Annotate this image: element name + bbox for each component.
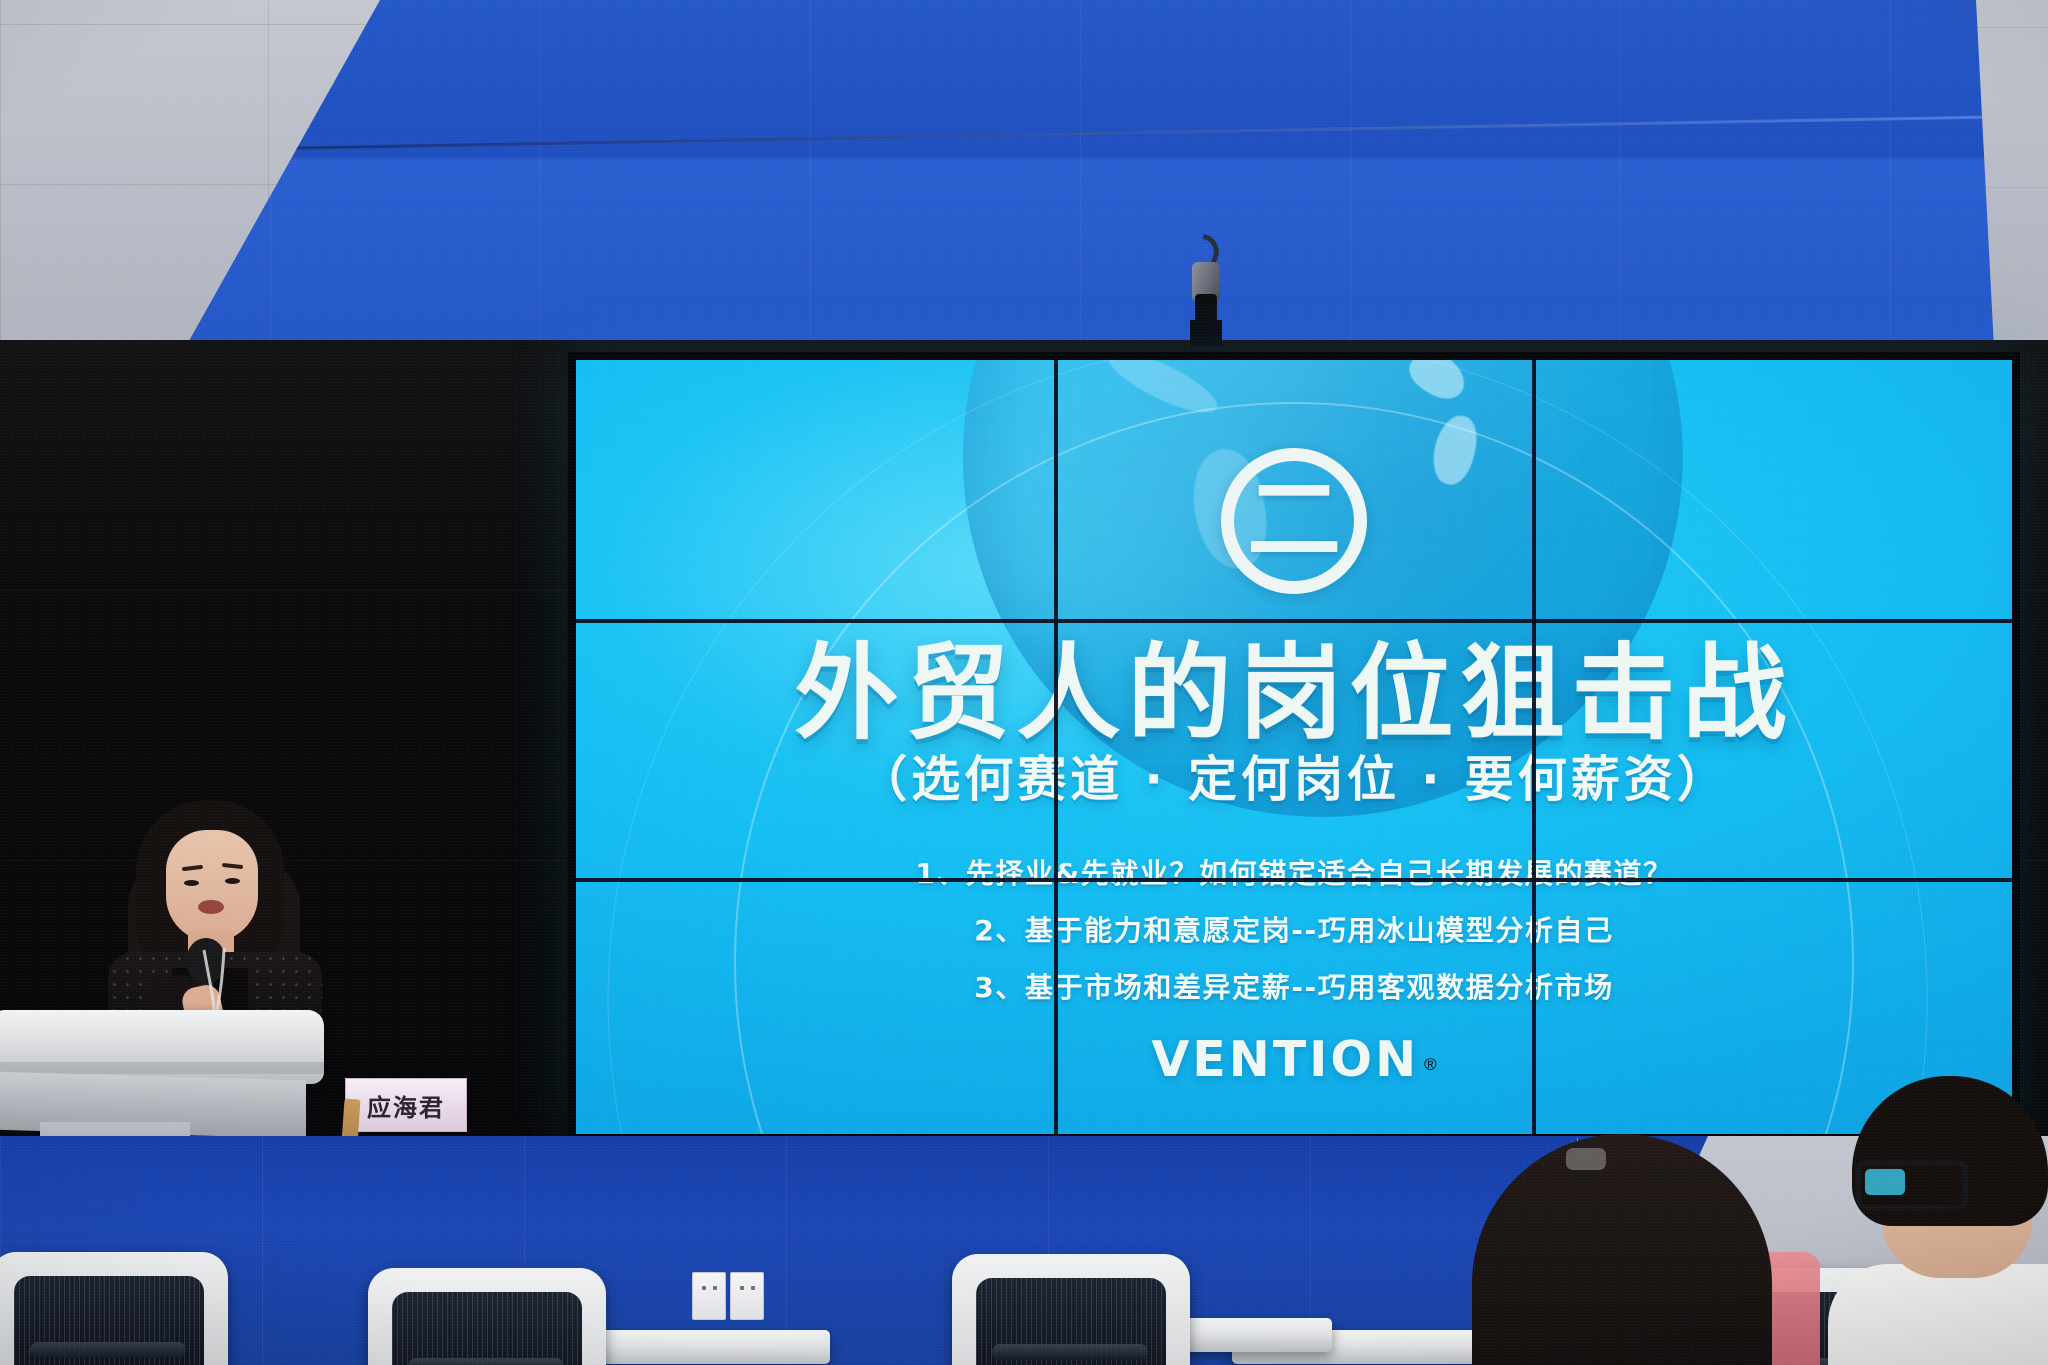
presentation-photo-scene: 二 外贸人的岗位狙击战 （选何赛道 · 定何岗位 · 要何薪资） 1、先择业&先… [0,0,2048,1365]
slide-title: 外贸人的岗位狙击战 [576,608,2012,759]
slide-bullet-list: 1、先择业&先就业？如何锚定适合自己长期发展的赛道？ 2、基于能力和意愿定岗--… [576,860,2012,1031]
office-chair [0,1252,228,1365]
office-chair [368,1268,606,1365]
audience-person-glasses [1838,1088,2048,1365]
section-number-badge: 二 [1221,448,1367,594]
presentation-slide: 二 外贸人的岗位狙击战 （选何赛道 · 定何岗位 · 要何薪资） 1、先择业&先… [576,360,2012,1134]
brand-logo: VENTION® [576,1031,2012,1088]
section-number-label: 二 [1247,484,1341,557]
slide-subtitle: （选何赛道 · 定何岗位 · 要何薪资） [576,740,2012,811]
slide-bullet-3: 3、基于市场和差异定薪--巧用客观数据分析市场 [576,974,2012,1002]
registered-trademark-icon: ® [1424,1055,1437,1074]
slide-bullet-2: 2、基于能力和意愿定岗--巧用冰山模型分析自己 [576,917,2012,945]
office-chair [952,1254,1190,1365]
brand-wordmark: VENTION [1151,1031,1419,1088]
slide-bullet-1: 1、先择业&先就业？如何锚定适合自己长期发展的赛道？ [576,860,2012,888]
speaker-nameplate: 应海君 [345,1078,467,1132]
speaker-nameplate-label: 应海君 [367,1088,445,1123]
power-outlet-icon [692,1272,726,1320]
power-outlet-icon [730,1272,764,1320]
ceiling-camera-icon [1186,228,1228,346]
led-video-wall: 二 外贸人的岗位狙击战 （选何赛道 · 定何岗位 · 要何薪资） 1、先择业&先… [568,352,2020,1142]
